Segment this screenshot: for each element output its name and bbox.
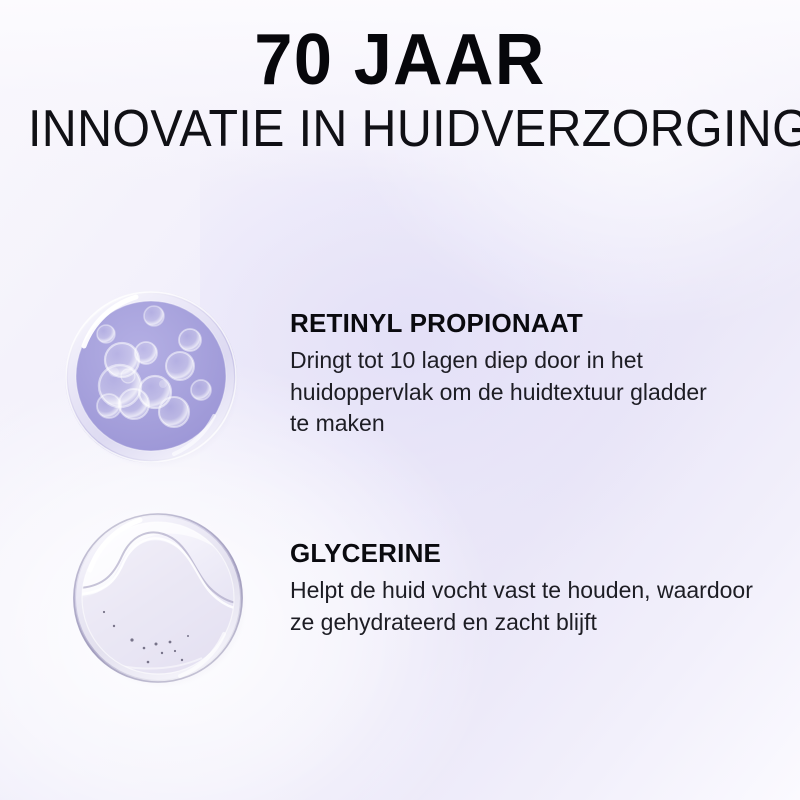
ingredient-copy-glycerine: GLYCERINE Helpt de huid vocht vast te ho… — [250, 508, 760, 638]
petri-dish-retinyl-propionaat — [62, 288, 242, 468]
petri-dish-glycerine — [70, 508, 250, 688]
header: 70 JAAR INNOVATIE IN HUIDVERZORGING — [0, 24, 800, 155]
petri-dish-clear-gel-icon — [70, 508, 250, 688]
page-title: 70 JAAR — [20, 24, 780, 96]
poster-canvas: 70 JAAR INNOVATIE IN HUIDVERZORGING — [0, 0, 800, 800]
ingredient-row-retinyl-propionaat: RETINYL PROPIONAAT Dringt tot 10 lagen d… — [62, 288, 710, 468]
ingredient-title-retinyl-propionaat: RETINYL PROPIONAAT — [290, 310, 710, 336]
ingredient-title-glycerine: GLYCERINE — [290, 540, 760, 566]
ingredient-copy-retinyl-propionaat: RETINYL PROPIONAAT Dringt tot 10 lagen d… — [242, 288, 710, 440]
ingredient-description-glycerine: Helpt de huid vocht vast te houden, waar… — [290, 575, 760, 638]
petri-dish-purple-icon — [62, 288, 242, 468]
page-subtitle: INNOVATIE IN HUIDVERZORGING — [28, 103, 772, 155]
ingredient-row-glycerine: GLYCERINE Helpt de huid vocht vast te ho… — [70, 508, 760, 688]
ingredient-description-retinyl-propionaat: Dringt tot 10 lagen diep door in het hui… — [290, 345, 710, 440]
